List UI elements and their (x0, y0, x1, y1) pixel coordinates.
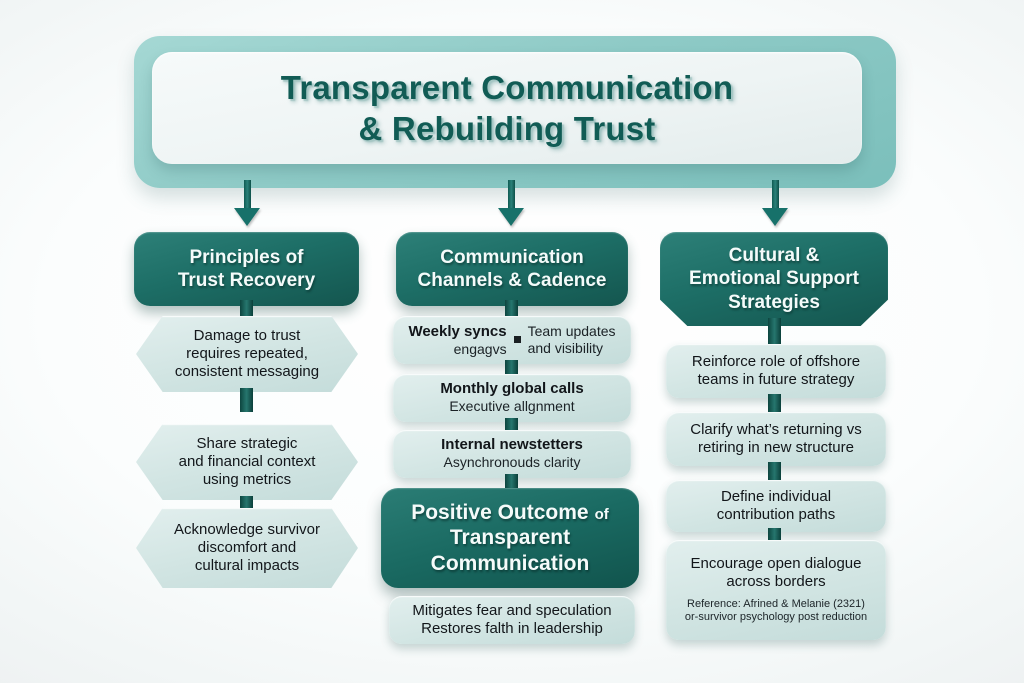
outcome-line-3: Communication (431, 552, 590, 575)
newsletters-sub: Asynchronouds clarity (444, 454, 581, 470)
card-principles-2-line-1: Share strategic (197, 435, 298, 452)
column-header-principles[interactable]: Principles of Trust Recovery (134, 232, 359, 306)
principles-header-line-2: Trust Recovery (178, 270, 315, 291)
card-cultural-3-line-2: contribution paths (717, 506, 835, 523)
arrow-stem-middle (508, 180, 515, 210)
connector-cultural-1 (768, 318, 781, 344)
column-header-communication[interactable]: Communication Channels & Cadence (396, 232, 628, 306)
positive-outcome-box[interactable]: Positive Outcomeof Transparent Communica… (381, 488, 639, 588)
monthly-calls-title: Monthly global calls (440, 380, 583, 397)
newsletters-title: Internal newstetters (441, 436, 583, 453)
card-principles-3-line-2: discomfort and (198, 539, 296, 556)
card-principles-2-line-3: using metrics (203, 471, 291, 488)
card-principles-1-line-2: requires repeated, (186, 345, 308, 362)
card-principles-3-line-3: cultural impacts (195, 557, 299, 574)
connector-principles-2 (240, 388, 253, 412)
card-cultural-1[interactable]: Reinforce role of offshore teams in futu… (666, 344, 886, 398)
team-updates-line-2: and visibility (528, 340, 616, 357)
card-cultural-3[interactable]: Define individual contribution paths (666, 480, 886, 532)
card-cultural-4-line-1: Encourage open dialogue (691, 555, 862, 572)
card-cultural-2-line-2: retiring in new structure (698, 439, 854, 456)
outcome-footer-line-2: Restores falth in leadership (421, 620, 603, 637)
card-principles-3[interactable]: Acknowledge survivor discomfort and cult… (136, 508, 358, 588)
title-line-1: Transparent Communication (281, 69, 733, 106)
outcome-line-2: Transparent (450, 526, 570, 549)
card-principles-2-line-2: and financial context (179, 453, 316, 470)
card-cultural-1-line-1: Reinforce role of offshore (692, 353, 860, 370)
weekly-syncs-title: Weekly syncs (408, 323, 506, 341)
card-communication-monthly-calls[interactable]: Monthly global calls Executive allgnment (393, 374, 631, 422)
communication-header-line-1: Communication (440, 247, 584, 268)
team-updates-line-1: Team updates (528, 323, 616, 340)
arrow-head-left (234, 208, 260, 226)
card-cultural-3-line-1: Define individual (721, 488, 831, 505)
connector-cultural-3 (768, 462, 781, 482)
title-line-2: & Rebuilding Trust (359, 110, 656, 147)
arrow-stem-right (772, 180, 779, 210)
card-principles-1-line-1: Damage to trust (194, 327, 301, 344)
card-outcome-footer[interactable]: Mitigates fear and speculation Restores … (389, 596, 635, 644)
card-cultural-2[interactable]: Clarify what’s returning vs retiring in … (666, 412, 886, 466)
connector-cultural-2 (768, 394, 781, 414)
cultural-header-line-3: Strategies (728, 292, 820, 313)
card-cultural-1-line-2: teams in future strategy (698, 371, 855, 388)
cultural-header-line-1: Cultural & (729, 245, 820, 266)
card-principles-1[interactable]: Damage to trust requires repeated, consi… (136, 316, 358, 392)
card-communication-weekly-syncs[interactable]: Weekly syncs engagvs Team updates and vi… (393, 316, 631, 364)
card-principles-2[interactable]: Share strategic and financial context us… (136, 424, 358, 500)
card-communication-newsletters[interactable]: Internal newstetters Asynchronouds clari… (393, 430, 631, 478)
weekly-syncs-sub: engagvs (408, 341, 506, 358)
communication-header-line-2: Channels & Cadence (418, 270, 607, 291)
reference-line-1: Reference: Afrined & Melanie (2321) (685, 598, 867, 612)
principles-header-line-1: Principles of (189, 247, 303, 268)
card-principles-1-line-3: consistent messaging (175, 363, 319, 380)
reference-line-2: or-survivor psychology post reduction (685, 611, 867, 625)
title-panel: Transparent Communication & Rebuilding T… (152, 52, 862, 164)
outcome-footer-line-1: Mitigates fear and speculation (412, 602, 611, 619)
card-cultural-2-line-1: Clarify what’s returning vs (690, 421, 861, 438)
weekly-syncs-left: Weekly syncs engagvs (408, 323, 506, 357)
outcome-line-1-main: Positive Outcome (411, 501, 588, 524)
arrow-head-middle (498, 208, 524, 226)
cultural-header-line-2: Emotional Support (689, 268, 859, 289)
arrow-stem-left (244, 180, 251, 210)
separator-dash-icon (514, 336, 521, 343)
page-title: Transparent Communication & Rebuilding T… (281, 67, 733, 150)
weekly-syncs-right: Team updates and visibility (528, 323, 616, 356)
column-header-cultural[interactable]: Cultural & Emotional Support Strategies (660, 232, 888, 326)
arrow-head-right (762, 208, 788, 226)
outcome-line-1-small: of (595, 506, 609, 523)
card-principles-3-line-1: Acknowledge survivor (174, 521, 320, 538)
monthly-calls-sub: Executive allgnment (449, 398, 574, 414)
card-cultural-4-line-2: across borders (726, 573, 825, 590)
card-cultural-4[interactable]: Encourage open dialogue across borders R… (666, 540, 886, 640)
